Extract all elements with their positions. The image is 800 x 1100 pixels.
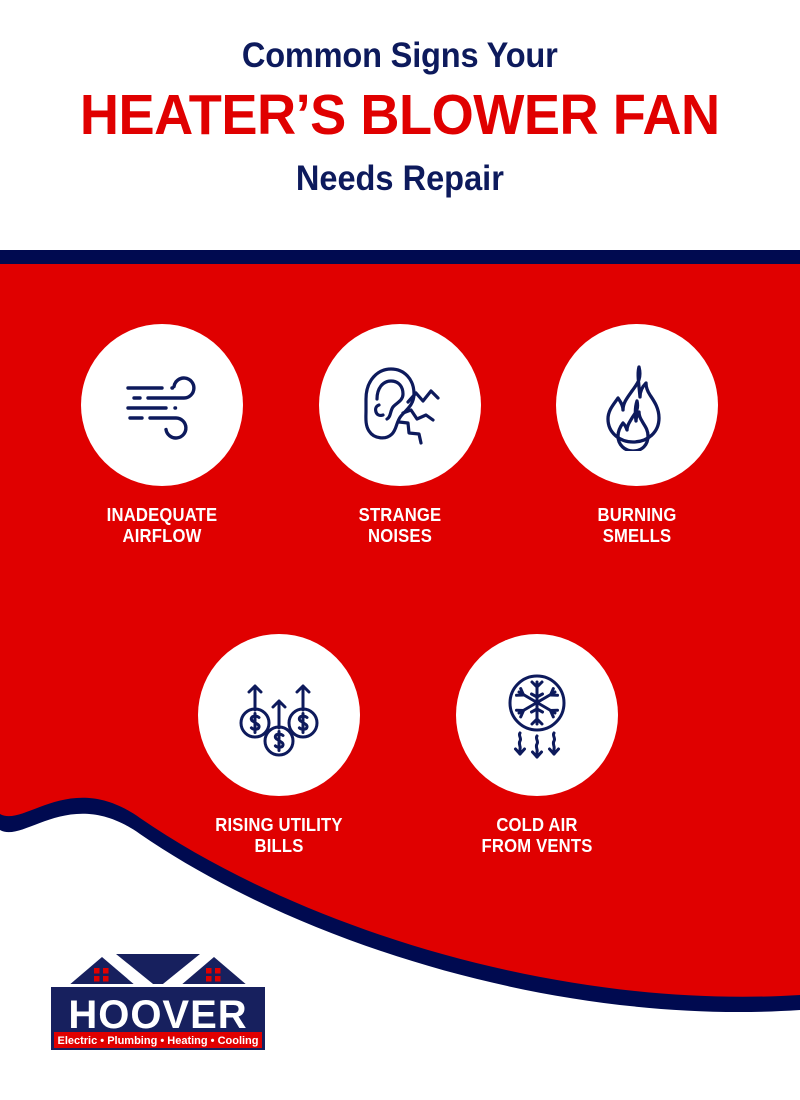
flame-icon — [591, 359, 683, 451]
sign-item-burning-smells[interactable]: BURNING SMELLS — [522, 324, 752, 547]
header-line-3: Needs Repair — [296, 159, 504, 198]
sign-item-label: RISING UTILITY BILLS — [176, 814, 383, 857]
sign-item-label: BURNING SMELLS — [534, 504, 741, 547]
sign-item-cold-air-from-vents[interactable]: COLD AIR FROM VENTS — [422, 634, 652, 857]
sign-item-label: COLD AIR FROM VENTS — [434, 814, 641, 857]
wind-airflow-icon — [114, 357, 210, 453]
hoover-logo-tagline: Electric • Plumbing • Heating • Cooling — [57, 1035, 258, 1047]
icon-circle — [81, 324, 243, 486]
ear-sound-waves-icon — [350, 355, 450, 455]
snowflake-vent-icon — [487, 665, 587, 765]
hoover-logo-wordmark: HOOVER — [68, 993, 247, 1037]
header-line-2-highlight: HEATER’S BLOWER FAN — [80, 83, 720, 149]
sign-item-label: STRANGE NOISES — [297, 504, 504, 547]
header: Common Signs Your HEATER’S BLOWER FAN Ne… — [0, 0, 800, 250]
house-roofs-icon — [64, 952, 252, 988]
hoover-logo-svg: HOOVER Electric • Plumbing • Heating • C… — [46, 950, 270, 1055]
hoover-logo[interactable]: HOOVER Electric • Plumbing • Heating • C… — [46, 950, 270, 1055]
icon-circle — [456, 634, 618, 796]
icon-circle — [319, 324, 481, 486]
sign-item-inadequate-airflow[interactable]: INADEQUATE AIRFLOW — [47, 324, 277, 547]
header-line-1: Common Signs Your — [242, 36, 558, 75]
sign-item-rising-utility-bills[interactable]: RISING UTILITY BILLS — [164, 634, 394, 857]
navy-divider-bar — [0, 250, 800, 264]
icon-circle — [198, 634, 360, 796]
sign-item-label: INADEQUATE AIRFLOW — [59, 504, 266, 547]
rising-money-icon — [229, 665, 329, 765]
sign-item-strange-noises[interactable]: STRANGE NOISES — [285, 324, 515, 547]
icon-circle — [556, 324, 718, 486]
